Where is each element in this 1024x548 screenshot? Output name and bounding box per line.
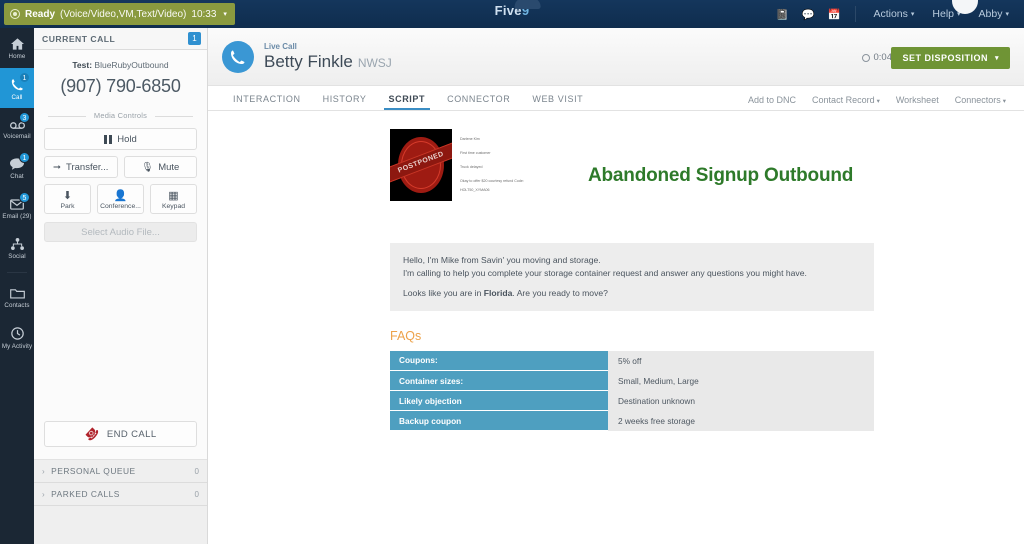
- five9-agent-desktop: Ready (Voice/Video,VM,Text/Video) 10:33 …: [0, 0, 1024, 548]
- rail-badge-call: 1: [19, 72, 30, 83]
- rail-item-social[interactable]: Social: [0, 228, 34, 268]
- clock-icon: [11, 327, 24, 342]
- agent-status-pill[interactable]: Ready (Voice/Video,VM,Text/Video) 10:33 …: [4, 3, 235, 25]
- status-timer: 10:33: [191, 9, 216, 20]
- call-timer: 0:04: [862, 52, 893, 63]
- script-hero: POSTPONED Darlene Kim First time custome…: [208, 129, 1024, 201]
- select-audio-file-label: Select Audio File...: [81, 227, 160, 238]
- script-notes: Darlene Kim First time customer Truck de…: [460, 129, 552, 200]
- rail-label-social: Social: [8, 253, 25, 260]
- conference-label: Conference...: [100, 203, 141, 210]
- rail-label-email: Email (29): [2, 213, 31, 220]
- mic-muted-icon: 🎙: [141, 162, 153, 173]
- script-note-3: Okay to offer $20 courtesy refund Code: …: [460, 177, 552, 195]
- page-title: Betty FinkleNWSJ: [264, 52, 392, 72]
- end-call-label: END CALL: [107, 429, 157, 440]
- end-call-button[interactable]: ☎ END CALL: [44, 421, 197, 447]
- park-button[interactable]: ⬇ Park: [44, 184, 91, 214]
- download-arrow-icon: ⬇: [63, 191, 72, 202]
- faq-value-2: Destination unknown: [608, 391, 874, 411]
- accordion-personal-queue-title: › PERSONAL QUEUE: [42, 466, 136, 476]
- campaign-line: Test: BlueRubyOutbound: [44, 60, 197, 70]
- accordion-parked-calls-label: PARKED CALLS: [51, 489, 120, 499]
- keypad-icon: ▦: [168, 191, 178, 202]
- select-audio-file-button[interactable]: Select Audio File...: [44, 222, 197, 242]
- accordion-parked-calls-title: › PARKED CALLS: [42, 489, 120, 499]
- transfer-button[interactable]: ➞ Transfer...: [44, 156, 118, 178]
- hold-label: Hold: [117, 134, 137, 145]
- pause-icon: [104, 135, 112, 144]
- transfer-label: Transfer...: [66, 162, 108, 173]
- chevron-down-icon: ▾: [877, 98, 880, 105]
- hangup-phone-icon: ☎: [82, 424, 103, 445]
- panel-header: CURRENT CALL 1: [34, 28, 207, 50]
- rail-item-call[interactable]: 1 Call: [0, 68, 34, 108]
- menu-actions-label: Actions: [873, 8, 907, 20]
- header-actions: Add to DNC Contact Record▾ Worksheet Con…: [740, 95, 1014, 105]
- campaign-label: Test:: [72, 60, 92, 70]
- tab-interaction[interactable]: INTERACTION: [222, 94, 312, 110]
- rail-item-home[interactable]: Home: [0, 28, 34, 68]
- mute-button[interactable]: 🎙 Mute: [124, 156, 198, 178]
- tab-script[interactable]: SCRIPT: [378, 94, 437, 110]
- script-note-2: Truck delayed: [460, 163, 552, 172]
- greeting-line-2: I'm calling to help you complete your st…: [403, 267, 861, 280]
- panel-title: CURRENT CALL: [42, 34, 115, 44]
- greeting-line-3-post: . Are you ready to move?: [512, 288, 608, 298]
- mute-label: Mute: [158, 162, 179, 173]
- divider: [855, 6, 856, 22]
- script-content: POSTPONED Darlene Kim First time custome…: [208, 111, 1024, 431]
- table-row: Backup coupon 2 weeks free storage: [390, 411, 874, 431]
- menu-user-label: Abby: [979, 8, 1003, 20]
- chevron-right-icon: ›: [42, 490, 45, 499]
- rail-item-my-activity[interactable]: My Activity: [0, 317, 34, 357]
- connectors-label: Connectors: [955, 95, 1001, 105]
- park-conference-keypad-row: ⬇ Park 👤 Conference... ▦ Keypad: [44, 184, 197, 214]
- table-row: Likely objection Destination unknown: [390, 391, 874, 411]
- chat-bubble-icon[interactable]: 💬: [795, 0, 821, 28]
- contact-name-text: Betty Finkle: [264, 52, 353, 71]
- social-icon: [11, 238, 24, 252]
- hold-button[interactable]: Hold: [44, 128, 197, 150]
- rail-label-call: Call: [11, 94, 22, 101]
- greeting-line-1: Hello, I'm Mike from Savin' you moving a…: [403, 254, 861, 267]
- add-to-dnc-label: Add to DNC: [748, 95, 796, 105]
- chevron-down-icon: ▾: [1003, 98, 1006, 105]
- faq-value-1: Small, Medium, Large: [608, 371, 874, 391]
- main-area: Live Call Betty FinkleNWSJ 0:04 SET DISP…: [208, 28, 1024, 548]
- script-note-0: Darlene Kim: [460, 135, 552, 144]
- accordion-parked-calls[interactable]: › PARKED CALLS 0: [34, 483, 207, 506]
- add-to-dnc-action[interactable]: Add to DNC: [740, 95, 804, 105]
- chevron-down-icon[interactable]: ▾: [223, 10, 227, 18]
- call-header: Live Call Betty FinkleNWSJ 0:04 SET DISP…: [208, 28, 1024, 86]
- chevron-down-icon: ▾: [1005, 11, 1009, 18]
- greeting-line-3-pre: Looks like you are in: [403, 288, 484, 298]
- transfer-mute-row: ➞ Transfer... 🎙 Mute: [44, 156, 197, 178]
- avatar: [222, 41, 254, 73]
- channel-rail: Home 1 Call 3 Voicemail 1 Chat: [0, 28, 34, 548]
- keypad-button[interactable]: ▦ Keypad: [150, 184, 197, 214]
- faqs-table: Coupons: 5% off Container sizes: Small, …: [390, 351, 874, 432]
- script-panel: POSTPONED Darlene Kim First time custome…: [208, 111, 1024, 547]
- connectors-action[interactable]: Connectors▾: [947, 95, 1014, 105]
- rail-item-email[interactable]: 5 Email (29): [0, 188, 34, 228]
- rail-item-contacts[interactable]: Contacts: [0, 277, 34, 317]
- panel-count-badge: 1: [188, 32, 201, 45]
- worksheet-label: Worksheet: [896, 95, 939, 105]
- script-title: Abandoned Signup Outbound: [588, 143, 853, 187]
- rail-badge-voicemail: 3: [19, 112, 30, 123]
- set-disposition-button[interactable]: SET DISPOSITION ▾: [891, 47, 1010, 69]
- keypad-label: Keypad: [162, 203, 185, 210]
- rail-divider: [7, 272, 27, 273]
- menu-user[interactable]: Abby▾: [970, 8, 1018, 20]
- contacts-folder-icon: [10, 288, 25, 301]
- rail-badge-chat: 1: [19, 152, 30, 163]
- chevron-down-icon: ▾: [995, 54, 999, 62]
- spacer: [403, 279, 861, 287]
- menu-help-label: Help: [932, 8, 954, 20]
- rail-item-voicemail[interactable]: 3 Voicemail: [0, 108, 34, 148]
- tabs: INTERACTION HISTORY SCRIPT CONNECTOR WEB…: [222, 94, 594, 110]
- tab-bar: INTERACTION HISTORY SCRIPT CONNECTOR WEB…: [208, 86, 1024, 111]
- table-row: Coupons: 5% off: [390, 351, 874, 371]
- accordion-parked-calls-count: 0: [195, 490, 199, 499]
- top-bar-right: 📓 💬 📅 Actions▾ Help▾ Abby▾: [769, 0, 1018, 28]
- call-card: Test: BlueRubyOutbound (907) 790-6850 Me…: [34, 50, 207, 460]
- arrow-right-icon: ➞: [53, 162, 61, 173]
- status-channels: (Voice/Video,VM,Text/Video): [60, 9, 186, 20]
- calendar-icon[interactable]: 📅: [821, 0, 847, 28]
- chevron-right-icon: ›: [42, 467, 45, 476]
- greeting-state: Florida: [484, 288, 513, 298]
- status-ready-icon: [10, 9, 20, 19]
- home-icon: [11, 38, 24, 52]
- contact-record-label: Contact Record: [812, 95, 875, 105]
- tab-web-visit[interactable]: WEB VISIT: [521, 94, 594, 110]
- cloud-icon: [515, 0, 541, 9]
- faq-key-2: Likely objection: [390, 391, 608, 411]
- faq-key-1: Container sizes:: [390, 371, 608, 391]
- live-call-label: Live Call: [264, 42, 297, 51]
- tab-history[interactable]: HISTORY: [312, 94, 378, 110]
- faqs-heading: FAQs: [390, 329, 1024, 343]
- contact-code: NWSJ: [358, 56, 392, 70]
- rail-badge-email: 5: [19, 192, 30, 203]
- faq-value-0: 5% off: [608, 351, 874, 371]
- rail-item-chat[interactable]: 1 Chat: [0, 148, 34, 188]
- campaign-value: BlueRubyOutbound: [94, 60, 168, 70]
- script-greeting-block: Hello, I'm Mike from Savin' you moving a…: [390, 243, 874, 311]
- call-timer-value: 0:04: [874, 52, 893, 63]
- rail-label-voicemail: Voicemail: [3, 133, 30, 140]
- chevron-down-icon: ▾: [911, 11, 915, 18]
- add-person-icon: 👤: [114, 191, 128, 202]
- postponed-stamp-image: POSTPONED: [390, 129, 452, 201]
- end-call-wrap: ☎ END CALL: [34, 421, 207, 447]
- accordion-personal-queue-count: 0: [195, 467, 199, 476]
- script-note-1: First time customer: [460, 149, 552, 158]
- greeting-line-3: Looks like you are in Florida. Are you r…: [403, 287, 861, 300]
- book-icon[interactable]: 📓: [769, 0, 795, 28]
- five9-logo: Five9: [495, 3, 530, 18]
- contact-record-action[interactable]: Contact Record▾: [804, 95, 888, 105]
- menu-actions[interactable]: Actions▾: [864, 8, 923, 20]
- rail-label-home: Home: [9, 53, 26, 60]
- phone-number: (907) 790-6850: [44, 76, 197, 97]
- accordion-personal-queue-label: PERSONAL QUEUE: [51, 466, 135, 476]
- clock-icon: [862, 54, 870, 62]
- conference-button[interactable]: 👤 Conference...: [97, 184, 144, 214]
- set-disposition-label: SET DISPOSITION: [902, 53, 988, 63]
- top-bar: Ready (Voice/Video,VM,Text/Video) 10:33 …: [0, 0, 1024, 28]
- rail-label-contacts: Contacts: [4, 302, 29, 309]
- faq-value-3: 2 weeks free storage: [608, 411, 874, 431]
- tab-connector[interactable]: CONNECTOR: [436, 94, 521, 110]
- rail-label-my-activity: My Activity: [2, 343, 32, 350]
- status-label: Ready: [25, 9, 55, 20]
- accordion-personal-queue[interactable]: › PERSONAL QUEUE 0: [34, 460, 207, 483]
- media-controls-label: Media Controls: [44, 111, 197, 120]
- park-label: Park: [61, 203, 75, 210]
- worksheet-action[interactable]: Worksheet: [888, 95, 947, 105]
- bottom-strip: [0, 544, 1024, 548]
- faq-key-0: Coupons:: [390, 351, 608, 371]
- faq-key-3: Backup coupon: [390, 411, 608, 431]
- rail-label-chat: Chat: [10, 173, 23, 180]
- current-call-panel: CURRENT CALL 1 Test: BlueRubyOutbound (9…: [34, 28, 208, 548]
- table-row: Container sizes: Small, Medium, Large: [390, 371, 874, 391]
